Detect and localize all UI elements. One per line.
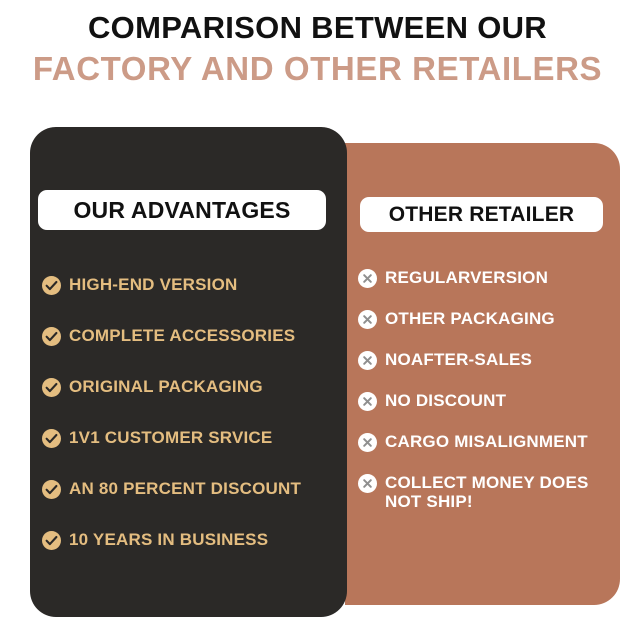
check-circle-icon [42,531,61,550]
check-circle-icon [42,378,61,397]
title-line-secondary: FACTORY AND OTHER RETAILERS [0,48,635,90]
check-circle-icon [42,276,61,295]
other-retailer-header-pill: OTHER RETAILER [360,197,603,232]
drawback-item-label: CARGO MISALIGNMENT [385,432,588,451]
check-circle-icon [42,327,61,346]
advantage-item-label: 10 YEARS IN BUSINESS [69,530,268,549]
drawback-item-label: COLLECT MONEY DOES NOT SHIP! [385,473,620,511]
check-circle-icon [42,480,61,499]
other-retailer-panel: OTHER RETAILER REGULARVERSIONOTHER PACKA… [345,143,620,605]
drawback-item-label: NO DISCOUNT [385,391,506,410]
advantage-item-label: 1V1 CUSTOMER SRVICE [69,428,272,447]
cross-circle-icon [358,433,377,452]
drawback-item: CARGO MISALIGNMENT [358,432,588,451]
advantage-item-label: COMPLETE ACCESSORIES [69,326,295,345]
advantage-item-label: ORIGINAL PACKAGING [69,377,263,396]
page-title: COMPARISON BETWEEN OUR FACTORY AND OTHER… [0,8,635,90]
cross-circle-icon [358,310,377,329]
drawback-item: REGULARVERSION [358,268,548,287]
drawback-item-label: REGULARVERSION [385,268,548,287]
check-circle-icon [42,429,61,448]
our-advantages-header-label: OUR ADVANTAGES [73,197,290,224]
drawback-item-label: OTHER PACKAGING [385,309,555,328]
cross-circle-icon [358,351,377,370]
our-advantages-header-pill: OUR ADVANTAGES [38,190,326,230]
other-retailer-header-label: OTHER RETAILER [389,203,575,227]
cross-circle-icon [358,474,377,493]
advantage-item-label: AN 80 PERCENT DISCOUNT [69,479,301,498]
drawback-item: OTHER PACKAGING [358,309,555,328]
drawback-item: NO DISCOUNT [358,391,506,410]
drawback-item: NOAFTER-SALES [358,350,532,369]
drawback-item-label: NOAFTER-SALES [385,350,532,369]
advantage-item: HIGH-END VERSION [42,275,238,294]
our-advantages-panel: OUR ADVANTAGES HIGH-END VERSIONCOMPLETE … [30,127,347,617]
title-line-primary: COMPARISON BETWEEN OUR [0,8,635,48]
advantage-item-label: HIGH-END VERSION [69,275,238,294]
cross-circle-icon [358,392,377,411]
advantage-item: AN 80 PERCENT DISCOUNT [42,479,301,498]
drawback-item: COLLECT MONEY DOES NOT SHIP! [358,473,620,511]
advantage-item: 1V1 CUSTOMER SRVICE [42,428,272,447]
advantage-item: COMPLETE ACCESSORIES [42,326,295,345]
advantage-item: ORIGINAL PACKAGING [42,377,263,396]
advantage-item: 10 YEARS IN BUSINESS [42,530,268,549]
cross-circle-icon [358,269,377,288]
